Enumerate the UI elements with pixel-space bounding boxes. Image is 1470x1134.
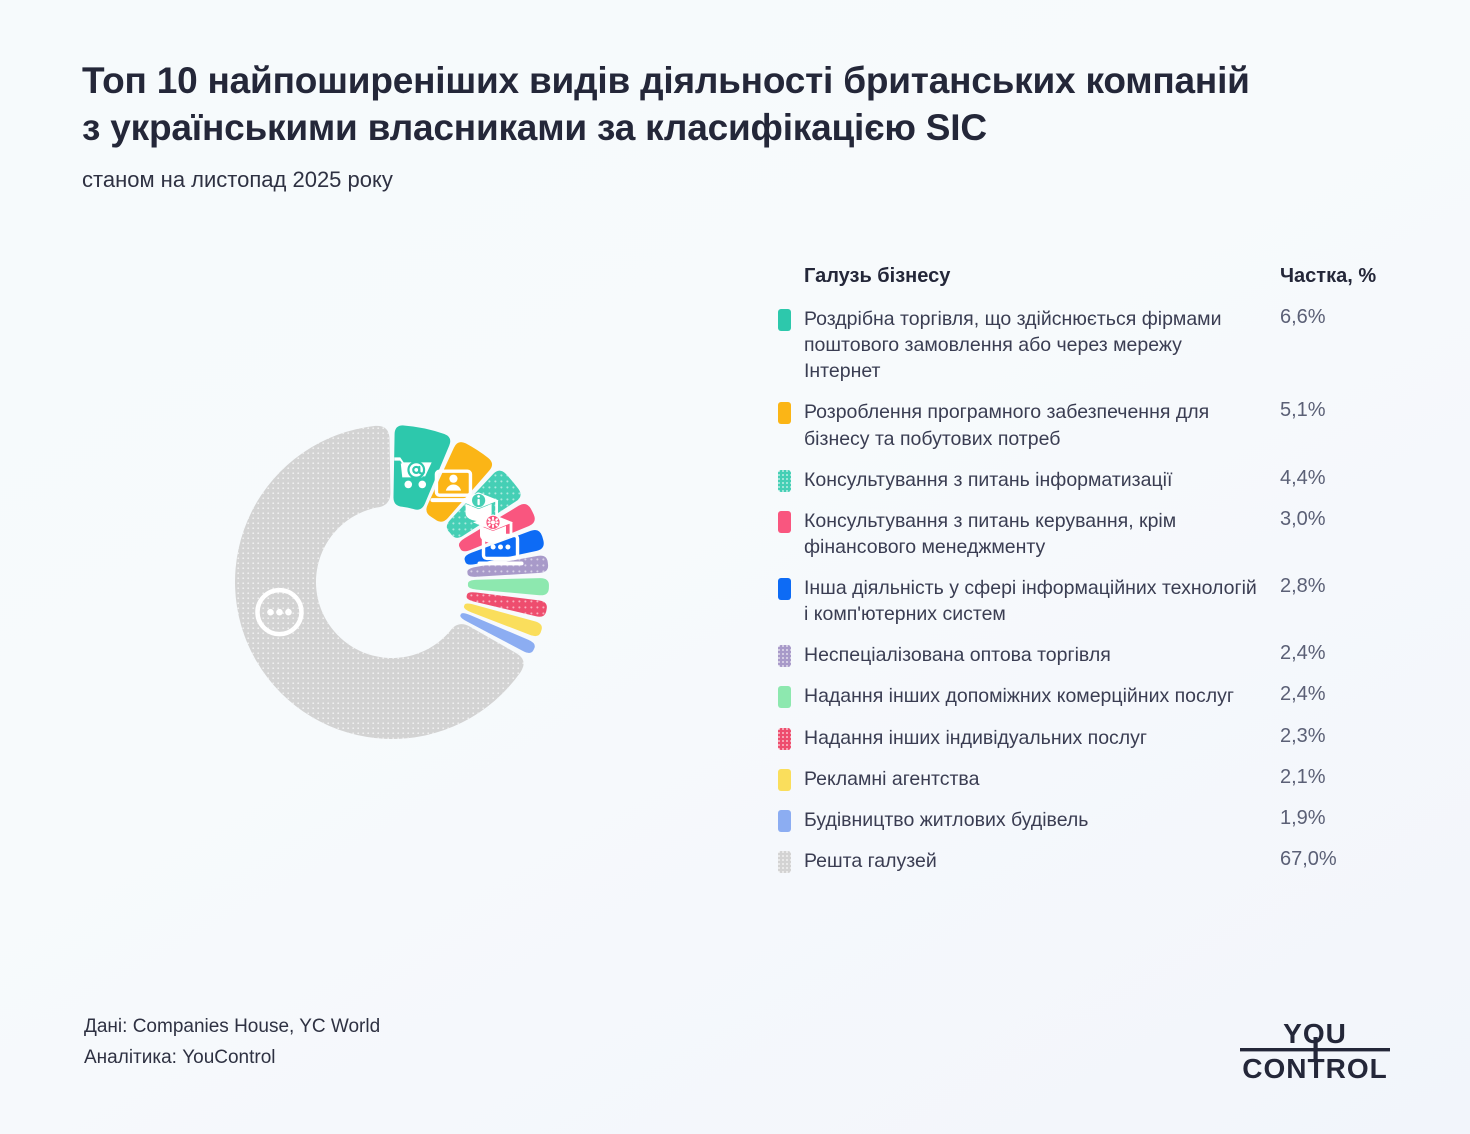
page-title: Топ 10 найпоширеніших видів діяльності б… — [82, 58, 1262, 151]
legend-row[interactable]: Консультування з питань керування, крім … — [778, 508, 1403, 560]
legend-color-swatch — [778, 810, 791, 832]
legend-color-swatch — [778, 578, 791, 600]
header: Топ 10 найпоширеніших видів діяльності б… — [82, 58, 1382, 193]
legend-value: 2,4% — [1268, 683, 1403, 706]
donut-segments — [235, 425, 549, 739]
legend-value: 1,9% — [1268, 807, 1403, 830]
legend-color-swatch — [778, 769, 791, 791]
legend-value: 4,4% — [1268, 467, 1403, 490]
legend-row[interactable]: Інша діяльність у сфері інформаційних те… — [778, 575, 1403, 627]
legend-value: 5,1% — [1268, 399, 1403, 422]
legend-value: 2,3% — [1268, 725, 1403, 748]
legend-value: 67,0% — [1268, 848, 1403, 871]
page-subtitle: станом на листопад 2025 року — [82, 167, 1382, 193]
legend-label: Надання інших індивідуальних послуг — [791, 725, 1268, 751]
legend: Галузь бізнесу Частка, % Роздрібна торгі… — [778, 265, 1403, 889]
logo-t-stem — [1314, 1037, 1318, 1059]
legend-color-swatch — [778, 686, 791, 708]
legend-value: 2,8% — [1268, 575, 1403, 598]
legend-row[interactable]: Решта галузей67,0% — [778, 848, 1403, 874]
legend-label: Консультування з питань інформатизації — [791, 467, 1268, 493]
legend-label: Надання інших допоміжних комерційних пос… — [791, 683, 1268, 709]
legend-label: Консультування з питань керування, крім … — [791, 508, 1268, 560]
legend-label: Решта галузей — [791, 848, 1268, 874]
footer-source: Дані: Companies House, YC World — [84, 1012, 380, 1043]
legend-value: 6,6% — [1268, 306, 1403, 329]
legend-color-swatch — [778, 470, 791, 492]
legend-row[interactable]: Надання інших індивідуальних послуг2,3% — [778, 725, 1403, 751]
legend-rows: Роздрібна торгівля, що здійснюється фірм… — [778, 306, 1403, 874]
legend-row[interactable]: Неспеціалізована оптова торгівля2,4% — [778, 642, 1403, 668]
legend-color-swatch — [778, 645, 791, 667]
legend-label: Неспеціалізована оптова торгівля — [791, 642, 1268, 668]
legend-label: Інша діяльність у сфері інформаційних те… — [791, 575, 1268, 627]
legend-label: Будівництво житлових будівель — [791, 807, 1268, 833]
legend-row[interactable]: Надання інших допоміжних комерційних пос… — [778, 683, 1403, 709]
legend-value: 3,0% — [1268, 508, 1403, 531]
legend-color-swatch — [778, 728, 791, 750]
legend-header-name: Галузь бізнесу — [778, 265, 1268, 288]
donut-segment[interactable] — [468, 578, 549, 595]
legend-row[interactable]: Консультування з питань інформатизації4,… — [778, 467, 1403, 493]
legend-value: 2,1% — [1268, 766, 1403, 789]
youcontrol-logo: YOU CONTROL — [1230, 1016, 1400, 1086]
footer: Дані: Companies House, YC World Аналітик… — [84, 1012, 380, 1074]
donut-chart — [62, 252, 722, 912]
legend-header-share: Частка, % — [1268, 265, 1403, 288]
legend-header-row: Галузь бізнесу Частка, % — [778, 265, 1403, 306]
legend-row[interactable]: Будівництво житлових будівель1,9% — [778, 807, 1403, 833]
footer-analytics: Аналітика: YouControl — [84, 1043, 380, 1074]
legend-color-swatch — [778, 851, 791, 873]
legend-label: Розроблення програмного забезпечення для… — [791, 399, 1268, 451]
legend-label: Роздрібна торгівля, що здійснюється фірм… — [791, 306, 1268, 384]
legend-row[interactable]: Роздрібна торгівля, що здійснюється фірм… — [778, 306, 1403, 384]
donut-chart-svg — [62, 252, 722, 912]
youcontrol-logo-svg: YOU CONTROL — [1230, 1016, 1400, 1086]
legend-row[interactable]: Розроблення програмного забезпечення для… — [778, 399, 1403, 451]
legend-row[interactable]: Рекламні агентства2,1% — [778, 766, 1403, 792]
legend-value: 2,4% — [1268, 642, 1403, 665]
legend-label: Рекламні агентства — [791, 766, 1268, 792]
legend-color-swatch — [778, 511, 791, 533]
legend-color-swatch — [778, 309, 791, 331]
legend-color-swatch — [778, 402, 791, 424]
